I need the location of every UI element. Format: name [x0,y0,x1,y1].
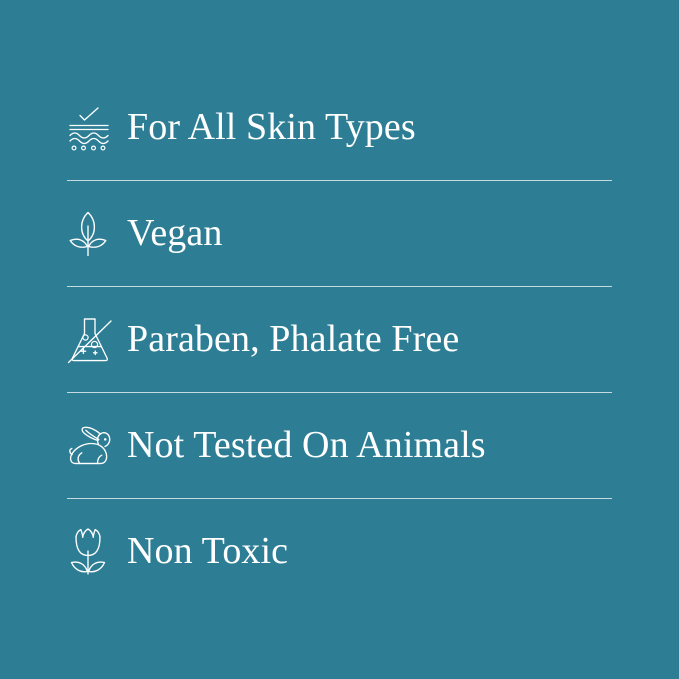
list-item: Paraben, Phalate Free [67,287,612,392]
product-benefits-panel: For All Skin Types Vegan [0,0,679,679]
feature-label: Not Tested On Animals [127,426,486,466]
feature-list: For All Skin Types Vegan [67,75,612,604]
list-item: Not Tested On Animals [67,393,612,498]
feature-label: For All Skin Types [127,108,416,148]
skin-layers-check-icon [67,100,127,156]
feature-label: Non Toxic [127,532,288,572]
tulip-flower-icon [67,524,127,580]
no-chemical-flask-icon [67,312,127,368]
feature-label: Vegan [127,214,222,254]
list-item: For All Skin Types [67,75,612,180]
rabbit-icon [67,418,127,474]
list-item: Vegan [67,181,612,286]
list-item: Non Toxic [67,499,612,604]
leaf-sprout-icon [67,206,127,262]
feature-label: Paraben, Phalate Free [127,320,459,360]
